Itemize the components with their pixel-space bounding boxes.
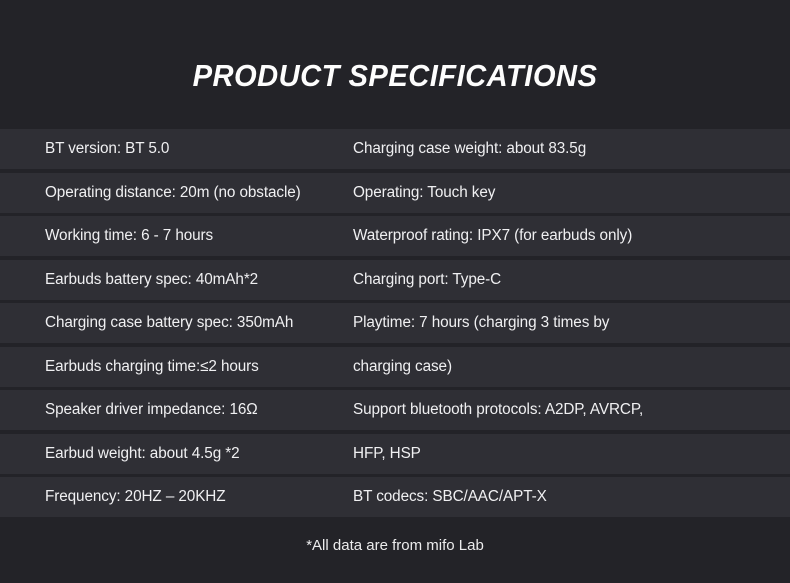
spec-cell-right: Charging case weight: about 83.5g — [353, 141, 790, 156]
spec-cell-left: Earbuds charging time:≤2 hours — [0, 359, 353, 374]
spec-cell-right: Playtime: 7 hours (charging 3 times by — [353, 315, 790, 330]
spec-cell-left: Earbud weight: about 4.5g *2 — [0, 446, 353, 461]
spec-cell-right: Support bluetooth protocols: A2DP, AVRCP… — [353, 402, 790, 417]
table-row: Earbud weight: about 4.5g *2 HFP, HSP — [0, 434, 790, 474]
spec-cell-right: Operating: Touch key — [353, 185, 790, 200]
spec-cell-left: Charging case battery spec: 350mAh — [0, 315, 353, 330]
spec-cell-left: BT version: BT 5.0 — [0, 141, 353, 156]
table-row: Frequency: 20HZ – 20KHZ BT codecs: SBC/A… — [0, 477, 790, 517]
spec-cell-left: Frequency: 20HZ – 20KHZ — [0, 489, 353, 504]
specifications-table: BT version: BT 5.0 Charging case weight:… — [0, 129, 790, 521]
spec-cell-right: BT codecs: SBC/AAC/APT-X — [353, 489, 790, 504]
spec-cell-left: Working time: 6 - 7 hours — [0, 228, 353, 243]
table-row: Charging case battery spec: 350mAh Playt… — [0, 303, 790, 343]
spec-cell-left: Operating distance: 20m (no obstacle) — [0, 185, 353, 200]
spec-cell-left: Earbuds battery spec: 40mAh*2 — [0, 272, 353, 287]
table-row: Operating distance: 20m (no obstacle) Op… — [0, 173, 790, 213]
spec-cell-left: Speaker driver impedance: 16Ω — [0, 402, 353, 417]
spec-cell-right: charging case) — [353, 359, 790, 374]
table-row: Speaker driver impedance: 16Ω Support bl… — [0, 390, 790, 430]
table-row: Earbuds battery spec: 40mAh*2 Charging p… — [0, 260, 790, 300]
footer-note: *All data are from mifo Lab — [0, 537, 790, 554]
spec-cell-right: Waterproof rating: IPX7 (for earbuds onl… — [353, 228, 790, 243]
table-row: Working time: 6 - 7 hours Waterproof rat… — [0, 216, 790, 256]
spec-cell-right: Charging port: Type-C — [353, 272, 790, 287]
table-row: BT version: BT 5.0 Charging case weight:… — [0, 129, 790, 169]
page-title: PRODUCT SPECIFICATIONS — [24, 58, 767, 94]
product-specifications-sheet: PRODUCT SPECIFICATIONS BT version: BT 5.… — [0, 0, 790, 583]
table-row: Earbuds charging time:≤2 hours charging … — [0, 347, 790, 387]
spec-cell-right: HFP, HSP — [353, 446, 790, 461]
